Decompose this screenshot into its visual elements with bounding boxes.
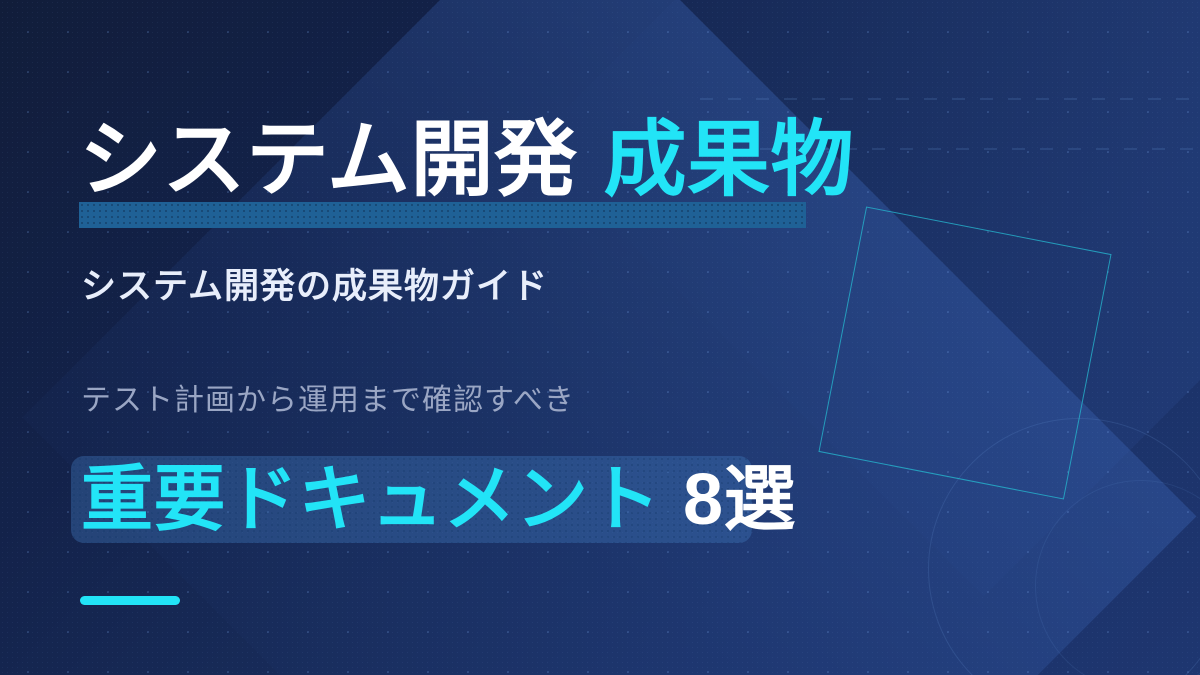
page-title: システム開発成果物 (79, 118, 854, 201)
eyebrow-text: テスト計画から運用まで確認すべき (81, 375, 575, 419)
title-banner: システム開発成果物 システム開発の成果物ガイド テスト計画から運用まで確認すべき… (0, 0, 1200, 675)
headline-count-text: 8選 (683, 460, 796, 540)
cyan-accent-bar (80, 596, 180, 605)
subtitle: システム開発の成果物ガイド (81, 258, 548, 309)
content-layer: システム開発成果物 システム開発の成果物ガイド テスト計画から運用まで確認すべき… (0, 0, 1200, 675)
title-main-text: システム開発 (79, 113, 578, 206)
title-accent-text: 成果物 (604, 113, 855, 206)
headline: 重要ドキュメント8選 (81, 457, 796, 543)
headline-main-text: 重要ドキュメント (81, 460, 661, 540)
title-block: システム開発成果物 (79, 118, 854, 201)
